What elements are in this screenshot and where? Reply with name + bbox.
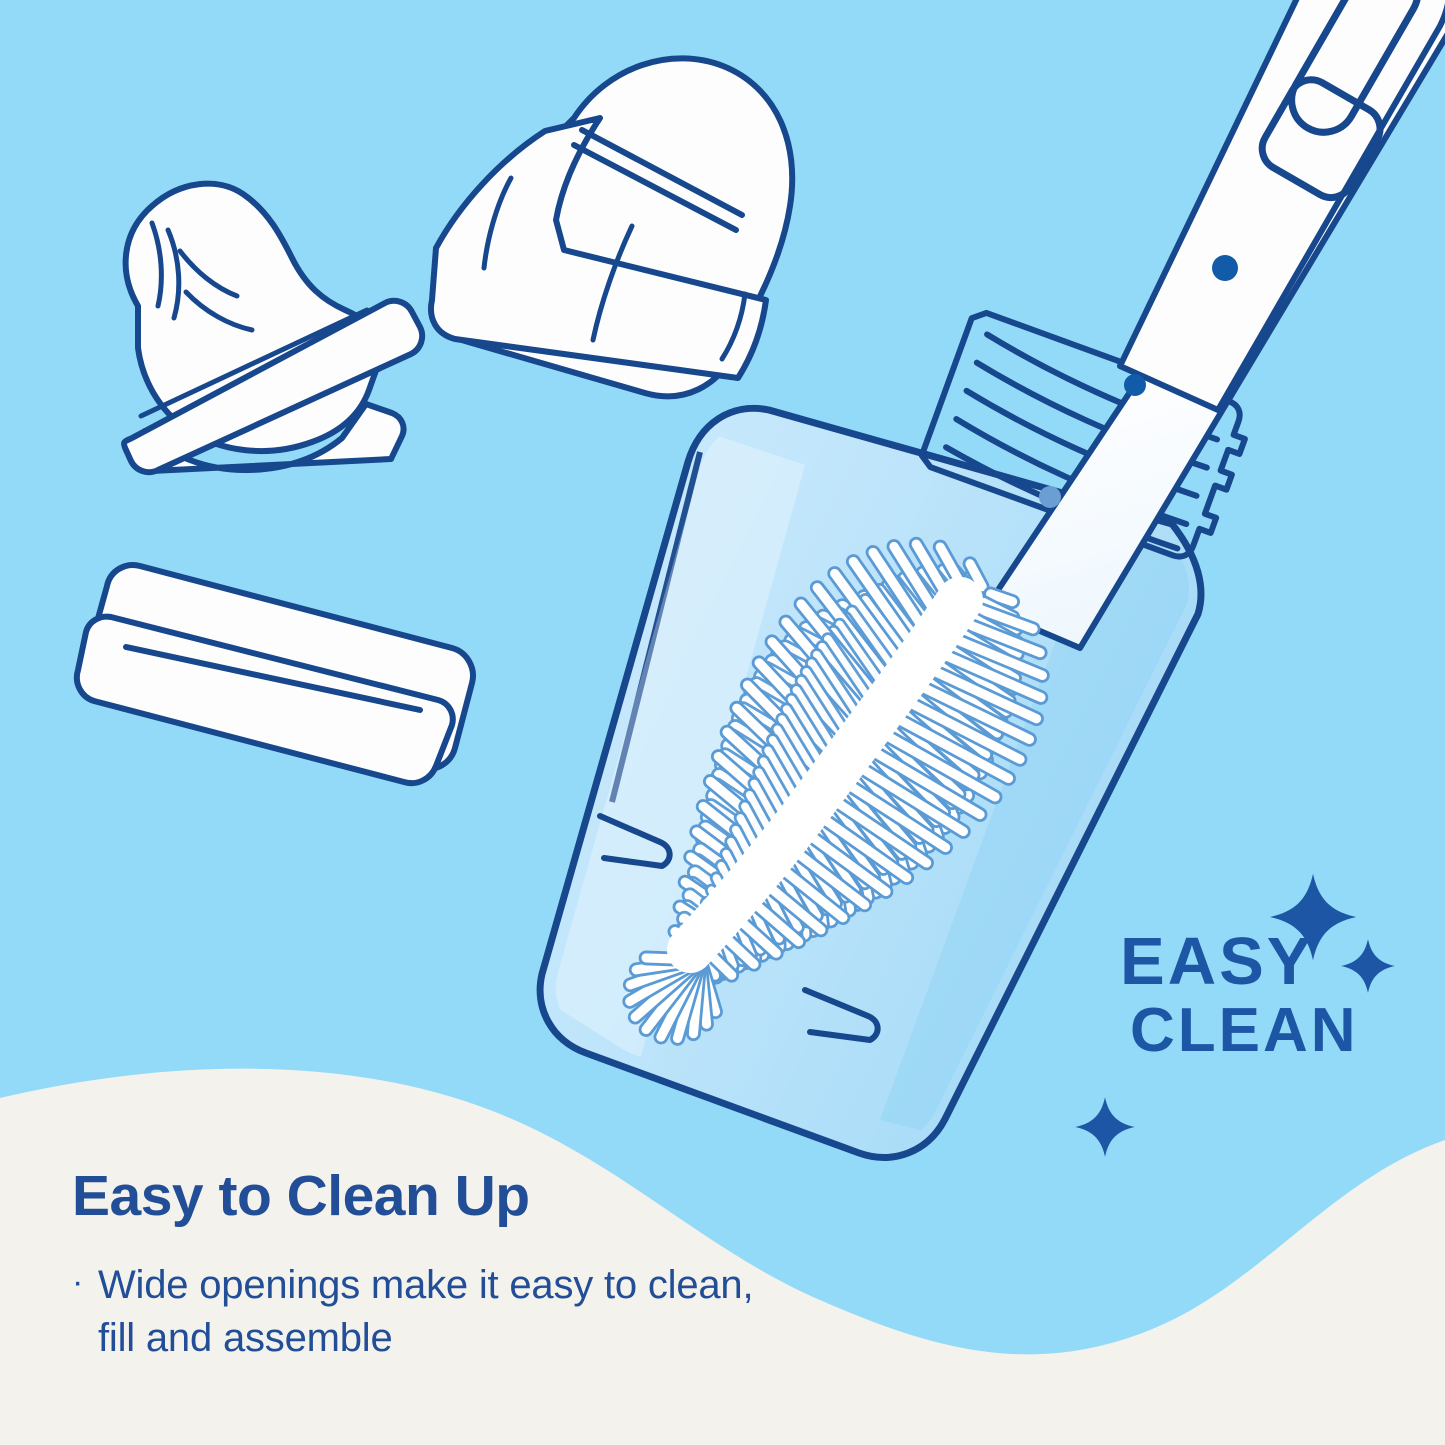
bullet-text-line-1: Wide openings make it easy: [98, 1263, 593, 1307]
bullet-text: Wide openings make it easy to clean, fil…: [98, 1259, 778, 1365]
handle-dot-3: [1039, 486, 1061, 508]
bullet-list: · Wide openings make it easy to clean, f…: [72, 1259, 872, 1365]
sparkle-medium-icon: [1340, 938, 1396, 994]
caption-block: Easy to Clean Up · Wide openings make it…: [72, 1168, 872, 1365]
sparkle-small-icon: [1074, 1096, 1136, 1158]
badge-line-2: CLEAN: [1130, 1000, 1359, 1062]
easy-clean-badge: EASY CLEAN: [1072, 928, 1372, 1088]
list-item: · Wide openings make it easy to clean, f…: [72, 1259, 872, 1365]
bullet-marker: ·: [72, 1259, 98, 1307]
handle-dot-2: [1124, 374, 1146, 396]
handle-dot-1: [1212, 255, 1238, 281]
infographic-canvas: EASY CLEAN Easy to Clean Up · Wide openi…: [0, 0, 1445, 1445]
page-title: Easy to Clean Up: [72, 1168, 872, 1225]
badge-line-1: EASY: [1120, 928, 1314, 995]
